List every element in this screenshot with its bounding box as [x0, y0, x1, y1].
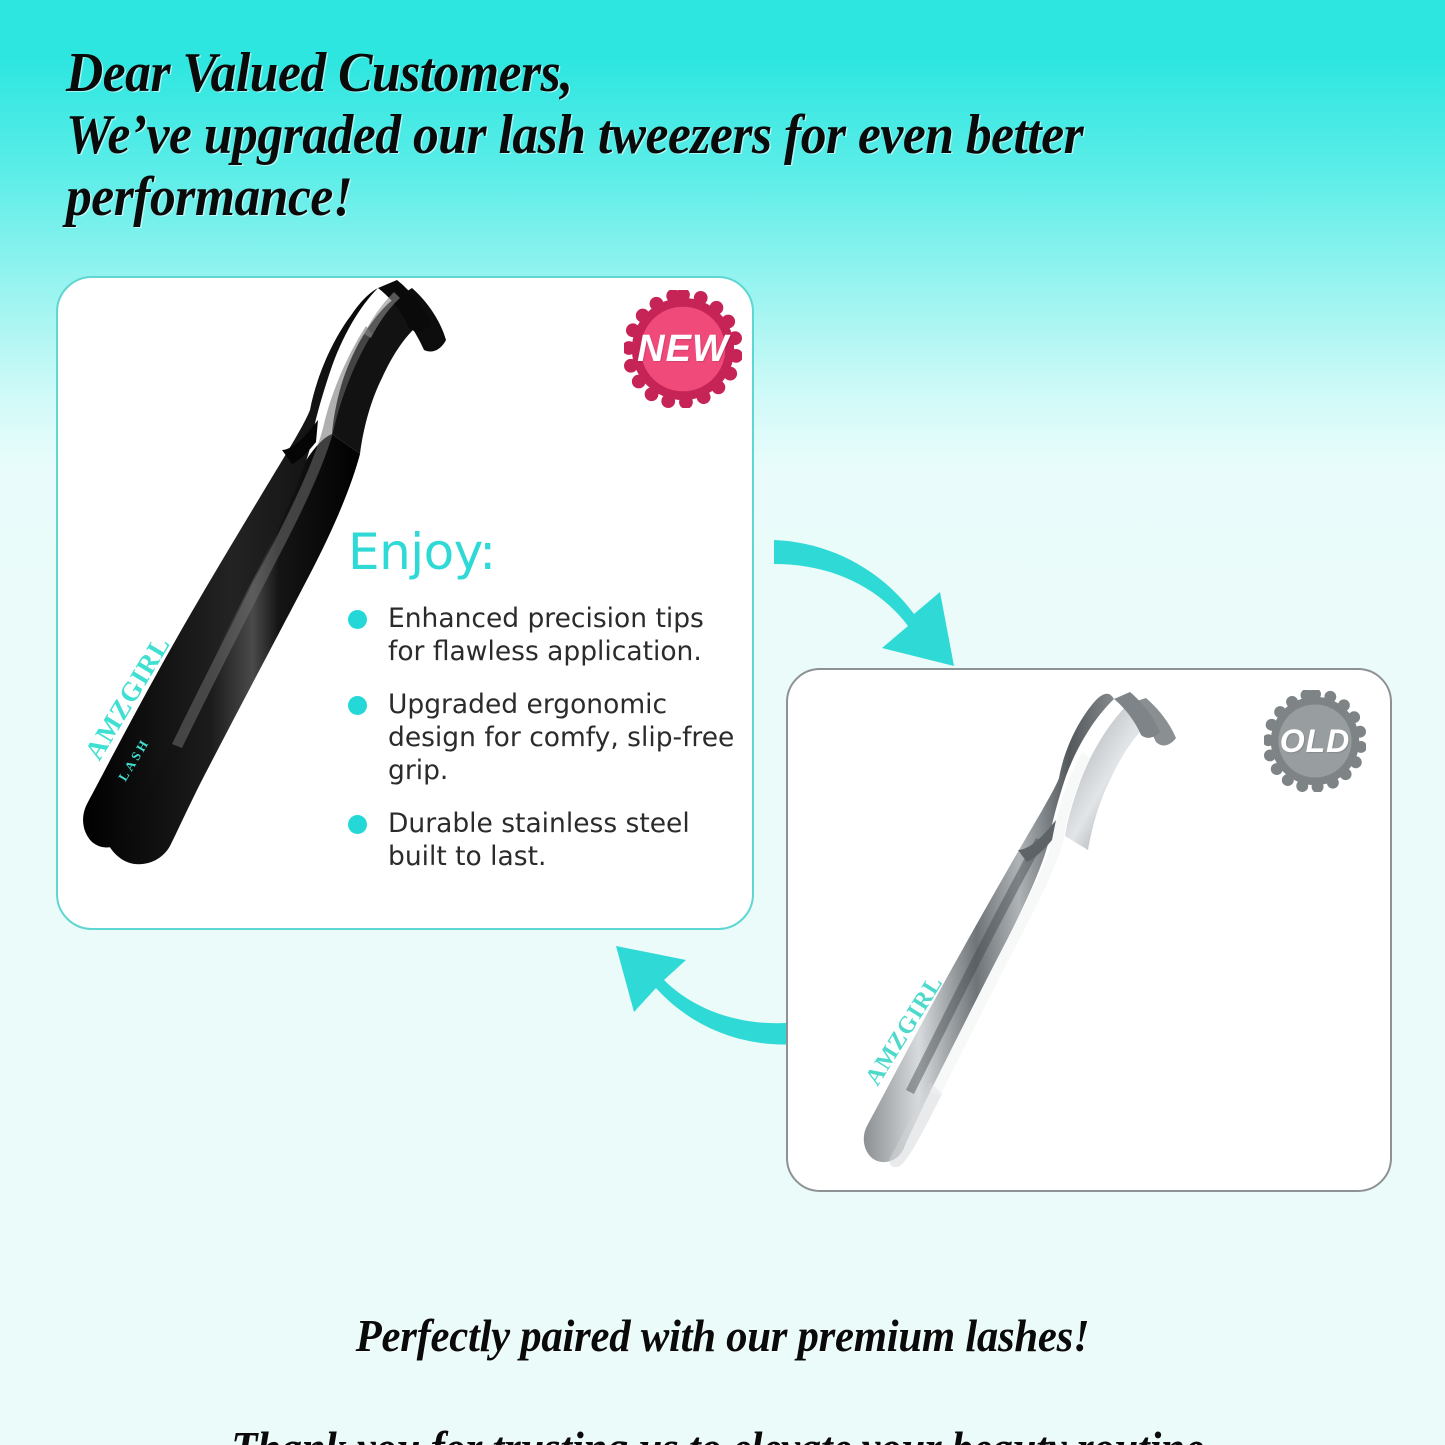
benefit-text: Enhanced precision tips for flawless app… — [388, 603, 704, 667]
bullet-dot-icon — [348, 696, 367, 715]
benefits-list: Enhanced precision tips for flawless app… — [348, 602, 740, 873]
enjoy-benefits-block: Enjoy: Enhanced precision tips for flawl… — [348, 524, 740, 873]
curved-arrow-right-down-icon — [768, 528, 988, 668]
benefit-item: Enhanced precision tips for flawless app… — [348, 602, 740, 668]
bullet-dot-icon — [348, 815, 367, 834]
page-headline: Dear Valued Customers, We’ve upgraded ou… — [66, 42, 1290, 228]
benefit-item: Durable stainless steel built to last. — [348, 807, 740, 873]
old-badge: OLD — [1264, 690, 1366, 792]
old-tweezer-image — [830, 690, 1220, 1180]
benefit-text: Upgraded ergonomic design for comfy, sli… — [388, 689, 734, 786]
footer-line-2: Thank you for trusting us to elevate you… — [51, 1420, 1395, 1445]
curved-arrow-left-up-icon — [594, 940, 804, 1070]
old-badge-label: OLD — [1280, 723, 1351, 760]
arrow-old-to-new — [594, 940, 804, 1070]
enjoy-heading: Enjoy: — [348, 524, 740, 580]
benefit-item: Upgraded ergonomic design for comfy, sli… — [348, 688, 740, 787]
footer-message: Perfectly paired with our premium lashes… — [0, 1252, 1445, 1445]
bullet-dot-icon — [348, 610, 367, 629]
benefit-text: Durable stainless steel built to last. — [388, 808, 690, 872]
new-badge: NEW — [624, 290, 742, 408]
arrow-new-to-old — [768, 528, 988, 668]
new-badge-label: NEW — [637, 328, 729, 371]
footer-line-1: Perfectly paired with our premium lashes… — [51, 1308, 1395, 1364]
promo-poster: Dear Valued Customers, We’ve upgraded ou… — [0, 0, 1445, 1445]
